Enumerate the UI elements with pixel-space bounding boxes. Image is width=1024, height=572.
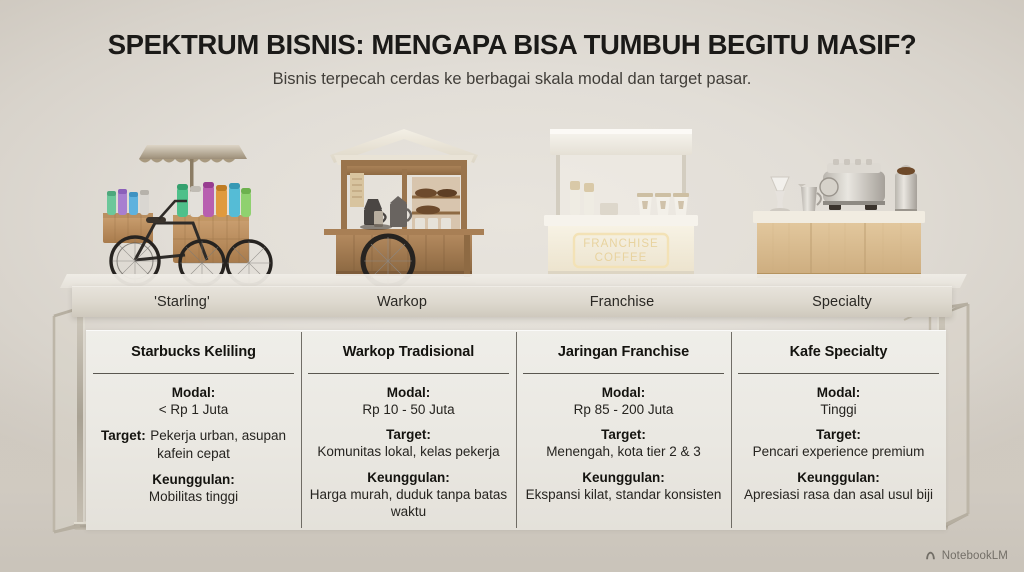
header: SPEKTRUM BISNIS: MENGAPA BISA TUMBUH BEG… [0, 30, 1024, 90]
fact-value-target: Komunitas lokal, kelas pekerja [308, 443, 509, 460]
fact-modal: Modal: Rp 10 - 50 Juta [308, 385, 509, 418]
fact-label-modal: Modal: [523, 385, 724, 400]
fact-keunggulan: Keunggulan: Mobilitas tinggi [93, 472, 294, 505]
column-header: Warkop Tradisional [308, 330, 509, 374]
table-column-specialty: Kafe Specialty Modal: Tinggi Target: Pen… [731, 330, 946, 530]
column-body: Modal: Tinggi Target: Pencari experience… [738, 374, 939, 503]
product-row: FRANCHISE COFFEE [78, 112, 946, 287]
product-slot-franchise: FRANCHISE COFFEE [512, 112, 729, 287]
fact-label-target: Target: [738, 427, 939, 442]
table-column-franchise: Jaringan Franchise Modal: Rp 85 - 200 Ju… [516, 330, 731, 530]
table-column-starling: Starbucks Keliling Modal: < Rp 1 Juta Ta… [86, 330, 301, 530]
shelf-label-warkop: Warkop [292, 294, 512, 310]
fact-modal: Modal: Rp 85 - 200 Juta [523, 385, 724, 418]
fact-label-modal: Modal: [308, 385, 509, 400]
watermark-text: NotebookLM [942, 550, 1008, 562]
shelf-label-specialty: Specialty [732, 294, 952, 310]
page-subtitle: Bisnis terpecah cerdas ke berbagai skala… [0, 70, 1024, 90]
page-title: SPEKTRUM BISNIS: MENGAPA BISA TUMBUH BEG… [0, 30, 1024, 61]
shelf-label-franchise: Franchise [512, 294, 732, 310]
column-header: Starbucks Keliling [93, 330, 294, 374]
franchise-sign-line1: FRANCHISE [583, 238, 658, 250]
fact-value-modal: Rp 85 - 200 Juta [523, 401, 724, 418]
fact-keunggulan: Keunggulan: Harga murah, duduk tanpa bat… [308, 470, 509, 521]
shelf-label-row: 'Starling' Warkop Franchise Specialty [72, 287, 952, 317]
fact-value-keunggulan: Ekspansi kilat, standar konsisten [523, 486, 724, 503]
specialty-cafe-counter-icon [745, 115, 931, 287]
fact-value-target: Menengah, kota tier 2 & 3 [523, 443, 724, 460]
fact-modal: Modal: Tinggi [738, 385, 939, 418]
fact-label-keunggulan: Keunggulan: [93, 472, 294, 487]
fact-modal: Modal: < Rp 1 Juta [93, 385, 294, 418]
table-column-warkop: Warkop Tradisional Modal: Rp 10 - 50 Jut… [301, 330, 516, 530]
franchise-sign-line2: COFFEE [594, 252, 647, 264]
fact-value-keunggulan: Mobilitas tinggi [93, 488, 294, 505]
fact-label-target: Target: [308, 427, 509, 442]
shelf-label-starling: 'Starling' [72, 294, 292, 310]
shelf-board: 'Starling' Warkop Franchise Specialty [72, 286, 952, 317]
franchise-kiosk-icon: FRANCHISE COFFEE [530, 115, 712, 287]
column-header: Jaringan Franchise [523, 330, 724, 374]
fact-target: Target: Pencari experience premium [738, 427, 939, 460]
fact-value-keunggulan: Harga murah, duduk tanpa batas waktu [308, 486, 509, 521]
fact-label-modal: Modal: [93, 385, 294, 400]
fact-target: Target: Menengah, kota tier 2 & 3 [523, 427, 724, 460]
fact-label-modal: Modal: [738, 385, 939, 400]
fact-label-target: Target: [101, 428, 146, 443]
column-body: Modal: < Rp 1 Juta Target: Pekerja urban… [93, 374, 294, 506]
fact-value-target: Pencari experience premium [738, 443, 939, 460]
product-slot-specialty [729, 112, 946, 287]
notebooklm-watermark: NotebookLM [924, 549, 1008, 562]
wooden-warkop-cart-icon [316, 115, 492, 287]
fact-target: Target: Komunitas lokal, kelas pekerja [308, 427, 509, 460]
fact-value-modal: Rp 10 - 50 Juta [308, 401, 509, 418]
notebooklm-logo-icon [924, 549, 937, 562]
product-slot-starling [78, 112, 295, 287]
fact-value-target: Pekerja urban, asupan kafein cepat [150, 428, 286, 461]
fact-value-modal: < Rp 1 Juta [93, 401, 294, 418]
fact-value-modal: Tinggi [738, 401, 939, 418]
fact-label-keunggulan: Keunggulan: [523, 470, 724, 485]
fact-label-target: Target: [523, 427, 724, 442]
column-body: Modal: Rp 10 - 50 Juta Target: Komunitas… [308, 374, 509, 520]
fact-target: Target: Pekerja urban, asupan kafein cep… [93, 427, 294, 463]
fact-value-keunggulan: Apresiasi rasa dan asal usul biji [738, 486, 939, 503]
column-header: Kafe Specialty [738, 330, 939, 374]
bicycle-coffee-cart-icon [89, 115, 285, 287]
product-slot-warkop [295, 112, 512, 287]
column-body: Modal: Rp 85 - 200 Juta Target: Menengah… [523, 374, 724, 503]
fact-keunggulan: Keunggulan: Ekspansi kilat, standar kons… [523, 470, 724, 503]
fact-label-keunggulan: Keunggulan: [738, 470, 939, 485]
fact-label-keunggulan: Keunggulan: [308, 470, 509, 485]
fact-keunggulan: Keunggulan: Apresiasi rasa dan asal usul… [738, 470, 939, 503]
comparison-table: Starbucks Keliling Modal: < Rp 1 Juta Ta… [86, 330, 946, 530]
